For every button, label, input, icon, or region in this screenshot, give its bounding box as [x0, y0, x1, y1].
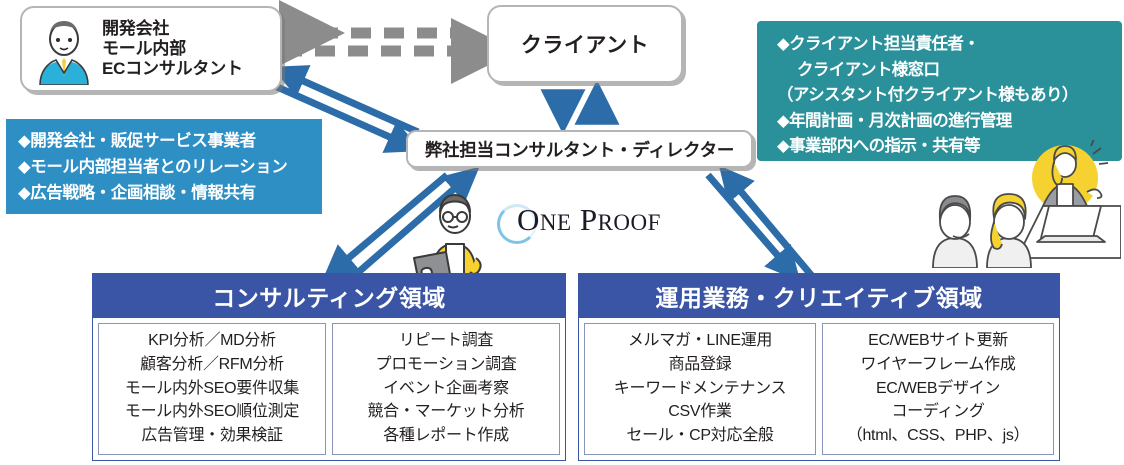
one-proof-logo: ONE PROOF: [495, 200, 675, 248]
dev-relation-info-box: ◆開発会社・販促サービス事業者 ◆モール内部担当者とのリレーション ◆広告戦略・…: [6, 119, 322, 214]
list-item: CSV作業: [668, 401, 731, 424]
list-item: イベント企画考察: [383, 378, 509, 401]
dev-company-box[interactable]: 開発会社 モール内部 ECコンサルタント: [20, 6, 282, 92]
teal-box-line-3: （アシスタント付クライアント様もあり）: [777, 83, 1122, 109]
consultant-director-label: 弊社担当コンサルタント・ディレクター: [425, 137, 734, 162]
list-item: リピート調査: [399, 330, 493, 353]
teal-box-line-1: ◆クライアント担当責任者・: [777, 32, 1122, 58]
list-item: 顧客分析／RFM分析: [140, 354, 284, 377]
operations-creative-domain-title: 運用業務・クリエイティブ領域: [579, 274, 1059, 318]
consultant-director-bar[interactable]: 弊社担当コンサルタント・ディレクター: [406, 130, 753, 168]
dev-company-line-1: 開発会社: [102, 19, 243, 39]
list-item: セール・CP対応全般: [626, 425, 773, 448]
logo-word1-cap: O: [517, 202, 540, 237]
operations-column-1: メルマガ・LINE運用 商品登録 キーワードメンテナンス CSV作業 セール・C…: [584, 323, 816, 455]
list-item: コーディング: [891, 401, 984, 424]
consulting-domain-columns: KPI分析／MD分析 顧客分析／RFM分析 モール内外SEO要件収集 モール内外…: [93, 318, 565, 460]
businessman-avatar-icon: [32, 13, 96, 85]
logo-word2-rest: ROOF: [598, 210, 661, 235]
list-item: メルマガ・LINE運用: [628, 330, 772, 353]
dev-company-line-3: ECコンサルタント: [102, 59, 243, 79]
consulting-column-2: リピート調査 プロモーション調査 イベント企画考察 競合・マーケット分析 各種レ…: [332, 323, 560, 455]
teal-box-line-4: ◆年間計画・月次計画の進行管理: [777, 109, 1122, 135]
blue-box-bullet-2: ◆モール内部担当者とのリレーション: [18, 154, 322, 180]
list-item: キーワードメンテナンス: [614, 378, 786, 401]
diagram-canvas: 開発会社 モール内部 ECコンサルタント クライアント ◆開発会社・販促サービス…: [0, 0, 1124, 465]
consulting-column-1: KPI分析／MD分析 顧客分析／RFM分析 モール内外SEO要件収集 モール内外…: [98, 323, 326, 455]
client-box-label: クライアント: [521, 29, 649, 59]
dev-company-labels: 開発会社 モール内部 ECコンサルタント: [102, 19, 243, 79]
list-item: プロモーション調査: [376, 354, 517, 377]
list-item: KPI分析／MD分析: [148, 330, 276, 353]
list-item: 広告管理・効果検証: [141, 425, 282, 448]
list-item: （html、CSS、PHP、js）: [847, 425, 1029, 448]
operations-column-2: EC/WEBサイト更新 ワイヤーフレーム作成 EC/WEBデザイン コーディング…: [822, 323, 1054, 455]
logo-word2-cap: P: [580, 202, 598, 237]
logo-word1-rest: NE: [540, 210, 572, 235]
blue-box-bullet-1: ◆開発会社・販促サービス事業者: [18, 128, 322, 154]
operations-creative-domain-panel: 運用業務・クリエイティブ領域 メルマガ・LINE運用 商品登録 キーワードメンテ…: [578, 273, 1060, 461]
person-with-laptop-illustration: [398, 186, 502, 280]
blue-box-bullet-3: ◆広告戦略・企画相談・情報共有: [18, 180, 322, 206]
list-item: モール内外SEO順位測定: [125, 401, 299, 424]
list-item: EC/WEBデザイン: [876, 378, 1000, 401]
dev-company-line-2: モール内部: [102, 39, 243, 59]
teal-box-line-2: クライアント様窓口: [777, 58, 1122, 84]
list-item: 各種レポート作成: [383, 425, 509, 448]
list-item: モール内外SEO要件収集: [125, 378, 299, 401]
list-item: EC/WEBサイト更新: [868, 330, 1008, 353]
list-item: ワイヤーフレーム作成: [860, 354, 1015, 377]
one-proof-wordmark: ONE PROOF: [517, 202, 661, 238]
client-box[interactable]: クライアント: [487, 5, 683, 83]
meeting-people-illustration: [925, 140, 1121, 268]
consulting-domain-title: コンサルティング領域: [93, 274, 565, 318]
operations-creative-columns: メルマガ・LINE運用 商品登録 キーワードメンテナンス CSV作業 セール・C…: [579, 318, 1059, 460]
consulting-domain-panel: コンサルティング領域 KPI分析／MD分析 顧客分析／RFM分析 モール内外SE…: [92, 273, 566, 461]
list-item: 商品登録: [669, 354, 732, 377]
list-item: 競合・マーケット分析: [367, 401, 524, 424]
